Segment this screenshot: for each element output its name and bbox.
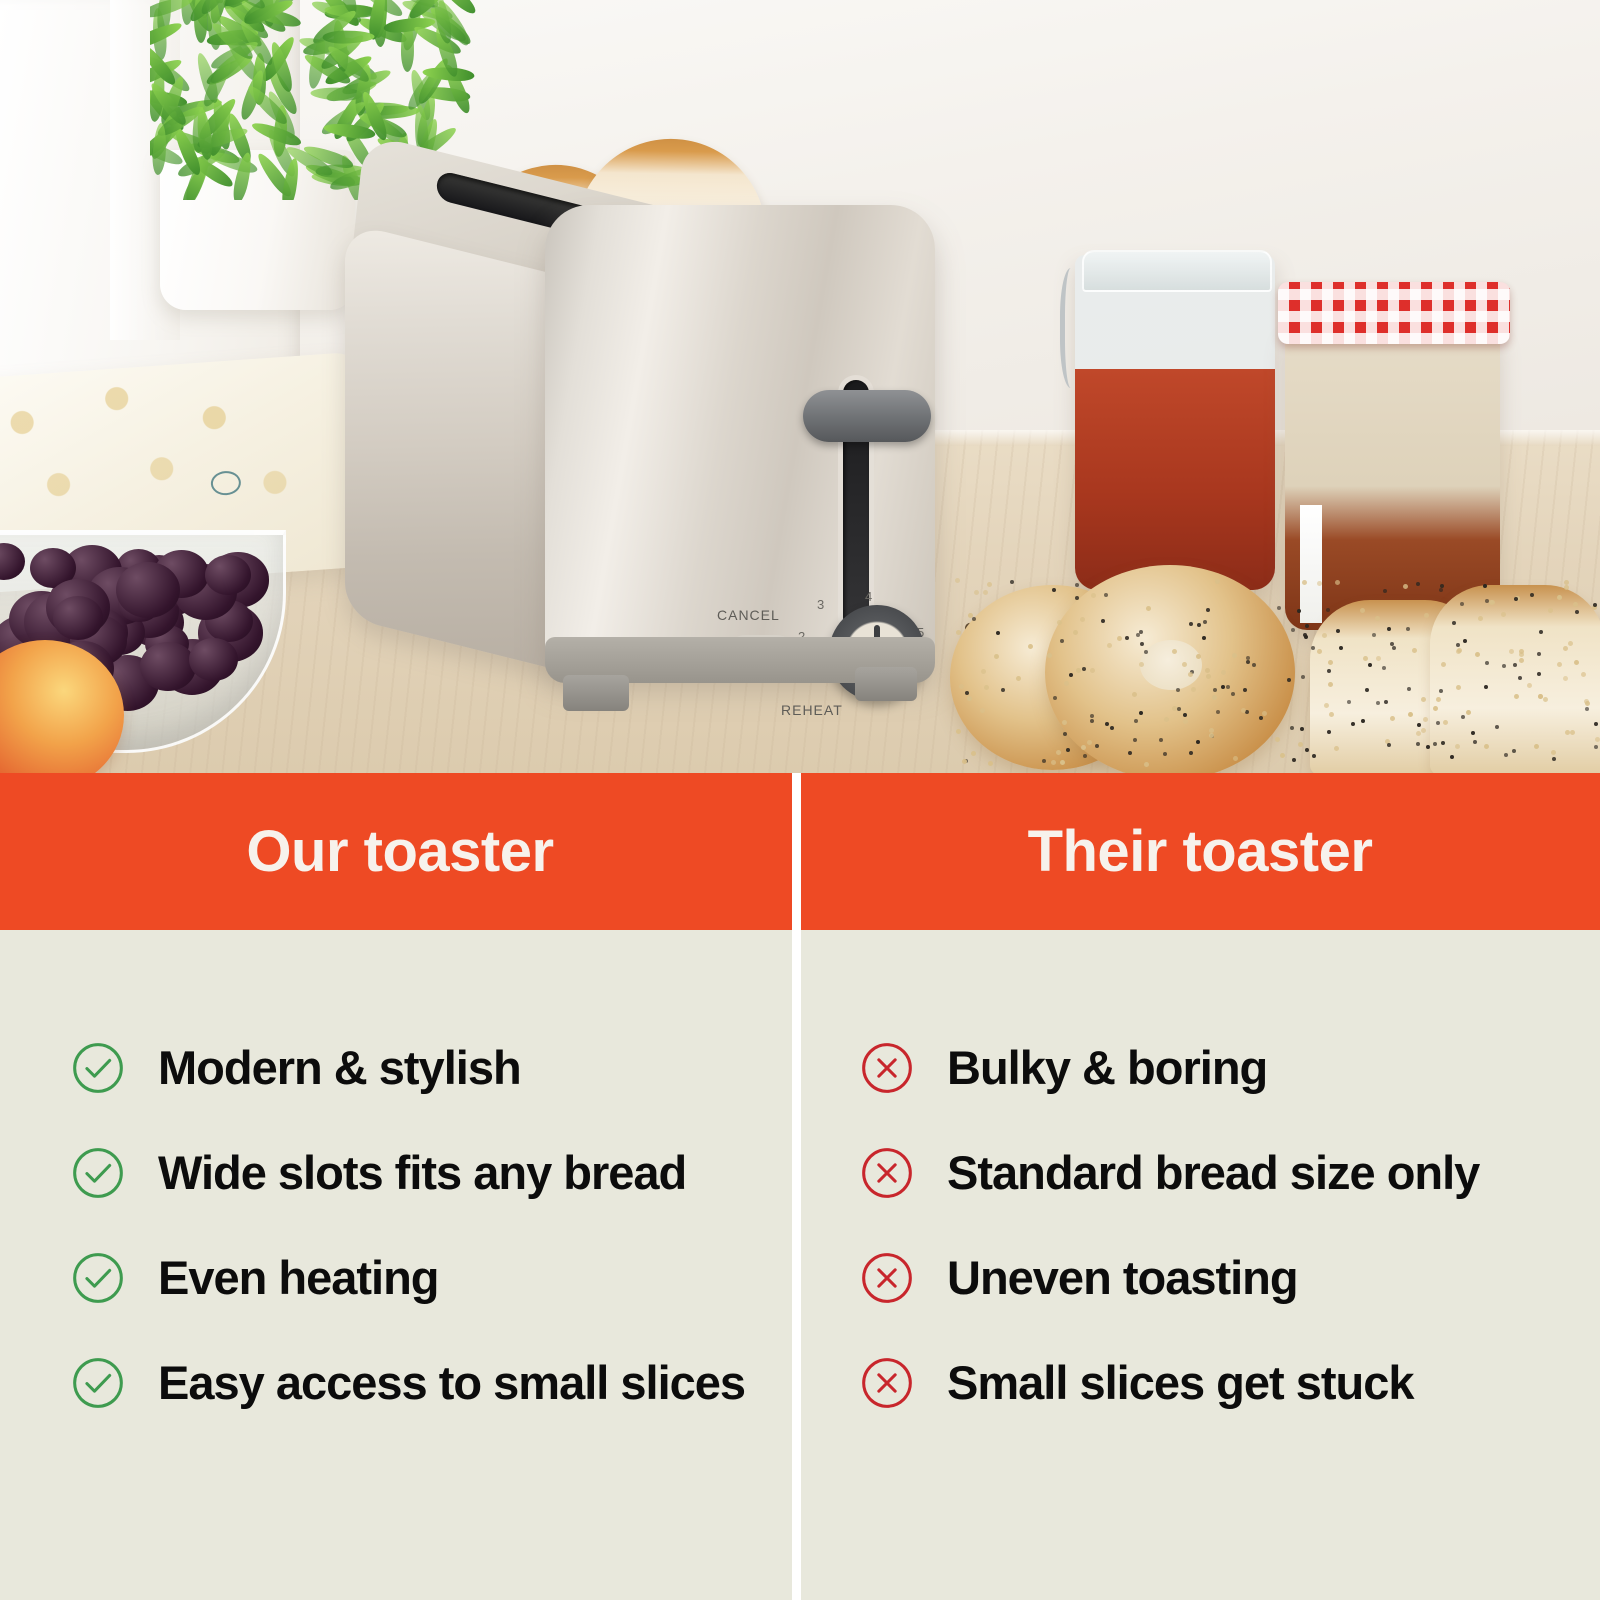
circle-check-icon [70, 1145, 126, 1201]
toaster-front-panel: 1 2 3 4 5 CANCEL REHEAT BELLA [545, 205, 935, 675]
list-item: Wide slots fits any bread [70, 1120, 811, 1225]
jar-label-sticker [1300, 505, 1322, 623]
toaster: 1 2 3 4 5 CANCEL REHEAT BELLA [345, 145, 935, 705]
list-item-label: Bulky & boring [947, 1040, 1267, 1095]
bagel-hole [1140, 640, 1202, 690]
list-item: Modern & stylish [70, 1015, 811, 1120]
reheat-label: REHEAT [781, 702, 843, 718]
their-toaster-title: Their toaster [1028, 818, 1373, 885]
circle-check-icon [70, 1355, 126, 1411]
circle-x-icon [859, 1355, 915, 1411]
list-item: Standard bread size only [859, 1120, 1600, 1225]
comparison-infographic: 1 2 3 4 5 CANCEL REHEAT BELLA [0, 0, 1600, 1600]
our-toaster-title: Our toaster [246, 818, 553, 885]
list-item-label: Small slices get stuck [947, 1355, 1414, 1410]
cancel-label: CANCEL [717, 607, 780, 623]
circle-x-icon [859, 1040, 915, 1096]
jam-jar-latch [1060, 268, 1087, 388]
dial-number-3: 3 [817, 597, 824, 612]
theirs-column: Bulky & boring Standard bread size only … [811, 930, 1600, 1600]
circle-check-icon [70, 1250, 126, 1306]
circle-check-icon [70, 1040, 126, 1096]
carriage-lever[interactable] [803, 390, 931, 442]
list-item-label: Standard bread size only [947, 1145, 1479, 1200]
circle-x-icon [859, 1250, 915, 1306]
list-item: Bulky & boring [859, 1015, 1600, 1120]
list-item: Uneven toasting [859, 1225, 1600, 1330]
bee-embroidery-icon [210, 470, 242, 496]
circle-x-icon [859, 1145, 915, 1201]
jam-jar-clear-lid [1082, 250, 1272, 292]
gingham-lid [1278, 282, 1510, 344]
list-item: Easy access to small slices [70, 1330, 811, 1435]
list-item: Even heating [70, 1225, 811, 1330]
list-item-label: Even heating [158, 1250, 439, 1305]
list-item-label: Wide slots fits any bread [158, 1145, 686, 1200]
toaster-foot-right [855, 667, 917, 701]
jam-jar-clear [1075, 255, 1275, 590]
banner-left: Our toaster [0, 773, 800, 930]
column-divider [792, 773, 801, 1600]
toaster-foot-left [563, 675, 629, 711]
product-photo: 1 2 3 4 5 CANCEL REHEAT BELLA [0, 0, 1600, 773]
banner-right: Their toaster [800, 773, 1600, 930]
list-item: Small slices get stuck [859, 1330, 1600, 1435]
list-item-label: Uneven toasting [947, 1250, 1298, 1305]
dial-number-4: 4 [865, 589, 872, 604]
list-item-label: Easy access to small slices [158, 1355, 745, 1410]
ours-column: Modern & stylish Wide slots fits any bre… [0, 930, 811, 1600]
list-item-label: Modern & stylish [158, 1040, 521, 1095]
